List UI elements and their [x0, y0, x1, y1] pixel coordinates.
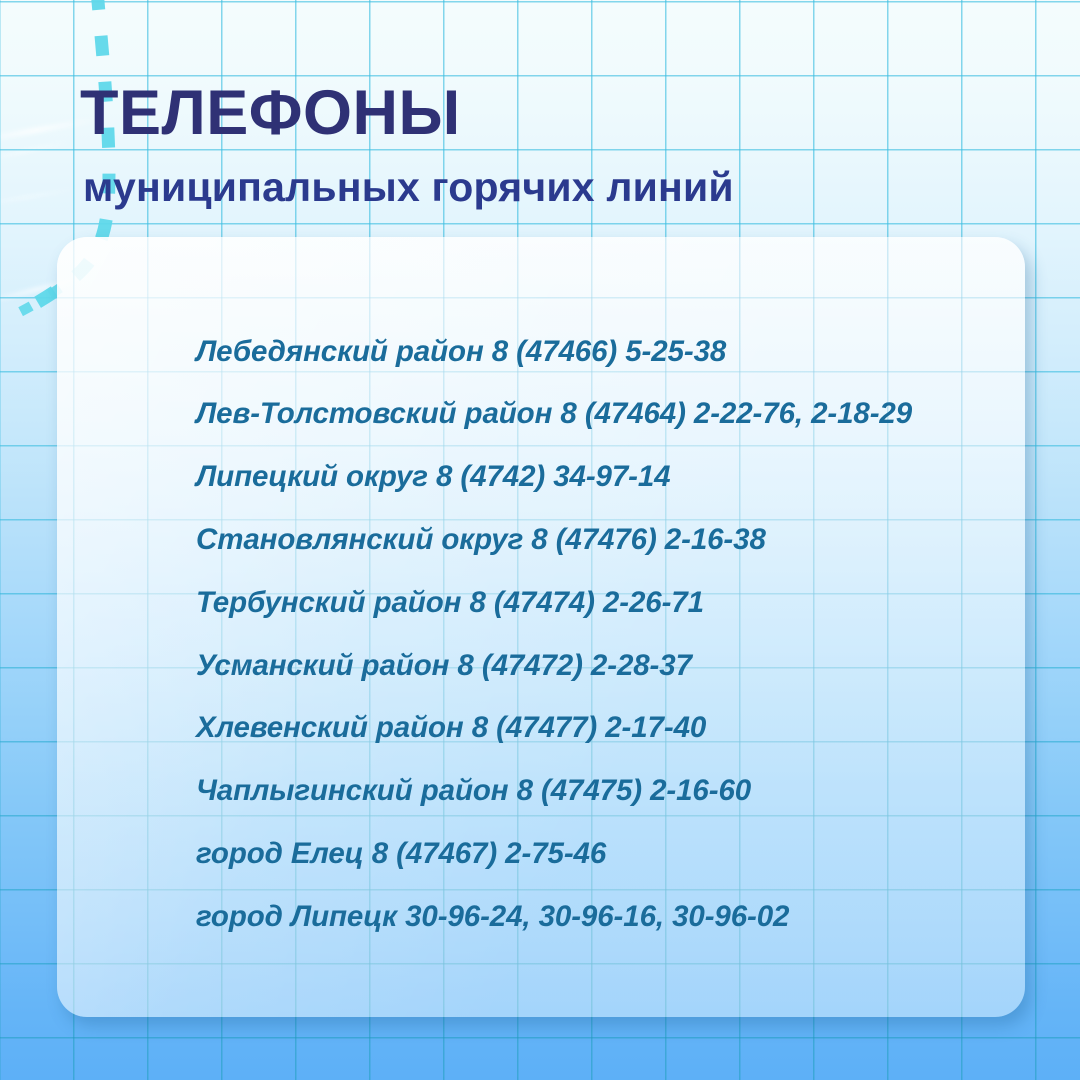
list-item: Чаплыгинский район 8 (47475) 2-16-60	[196, 760, 1026, 823]
poster-heading-block: ТЕЛЕФОНЫ муниципальных горячих линий	[80, 82, 980, 208]
poster-root: ТЕЛЕФОНЫ муниципальных горячих линий Леб…	[0, 0, 1080, 1080]
list-item: Тербунский район 8 (47474) 2-26-71	[196, 571, 1026, 634]
list-item: Хлевенский район 8 (47477) 2-17-40	[196, 697, 1026, 760]
page-subtitle: муниципальных горячих линий	[83, 167, 980, 208]
list-item: Лебедянский район 8 (47466) 5-25-38	[196, 320, 1026, 383]
list-item: Усманский район 8 (47472) 2-28-37	[196, 634, 1026, 697]
list-item: Становлянский округ 8 (47476) 2-16-38	[196, 508, 1026, 571]
list-item: Липецкий округ 8 (4742) 34-97-14	[196, 446, 1026, 509]
list-item: город Липецк 30-96-24, 30-96-16, 30-96-0…	[196, 885, 1026, 948]
page-title: ТЕЛЕФОНЫ	[80, 82, 980, 145]
list-item: город Елец 8 (47467) 2-75-46	[196, 822, 1026, 885]
hotline-list: Лебедянский район 8 (47466) 5-25-38 Лев-…	[196, 320, 1026, 948]
list-item: Лев-Толстовский район 8 (47464) 2-22-76,…	[196, 383, 1026, 446]
